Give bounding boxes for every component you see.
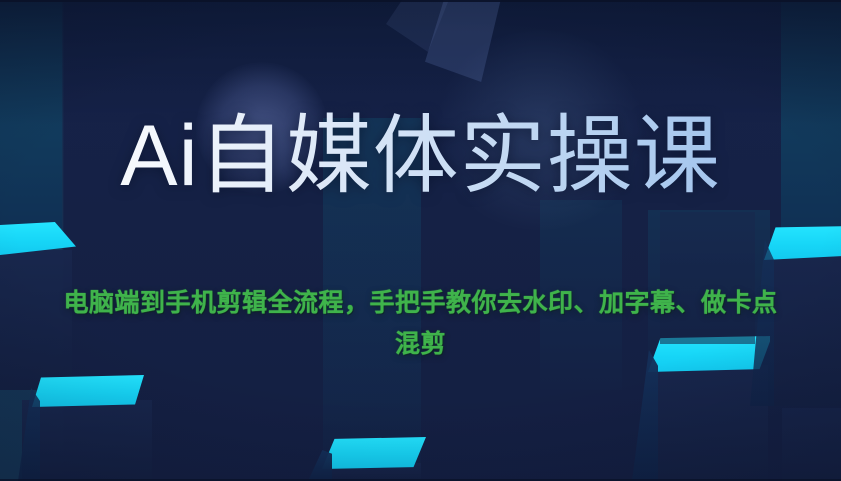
course-promo-banner: Ai自媒体实操课 电脑端到手机剪辑全流程，手把手教你去水印、加字幕、做卡点混剪 (0, 0, 841, 481)
text-layer: Ai自媒体实操课 电脑端到手机剪辑全流程，手把手教你去水印、加字幕、做卡点混剪 (0, 0, 841, 481)
page-title: Ai自媒体实操课 (0, 104, 841, 208)
page-subtitle: 电脑端到手机剪辑全流程，手把手教你去水印、加字幕、做卡点混剪 (62, 283, 779, 365)
